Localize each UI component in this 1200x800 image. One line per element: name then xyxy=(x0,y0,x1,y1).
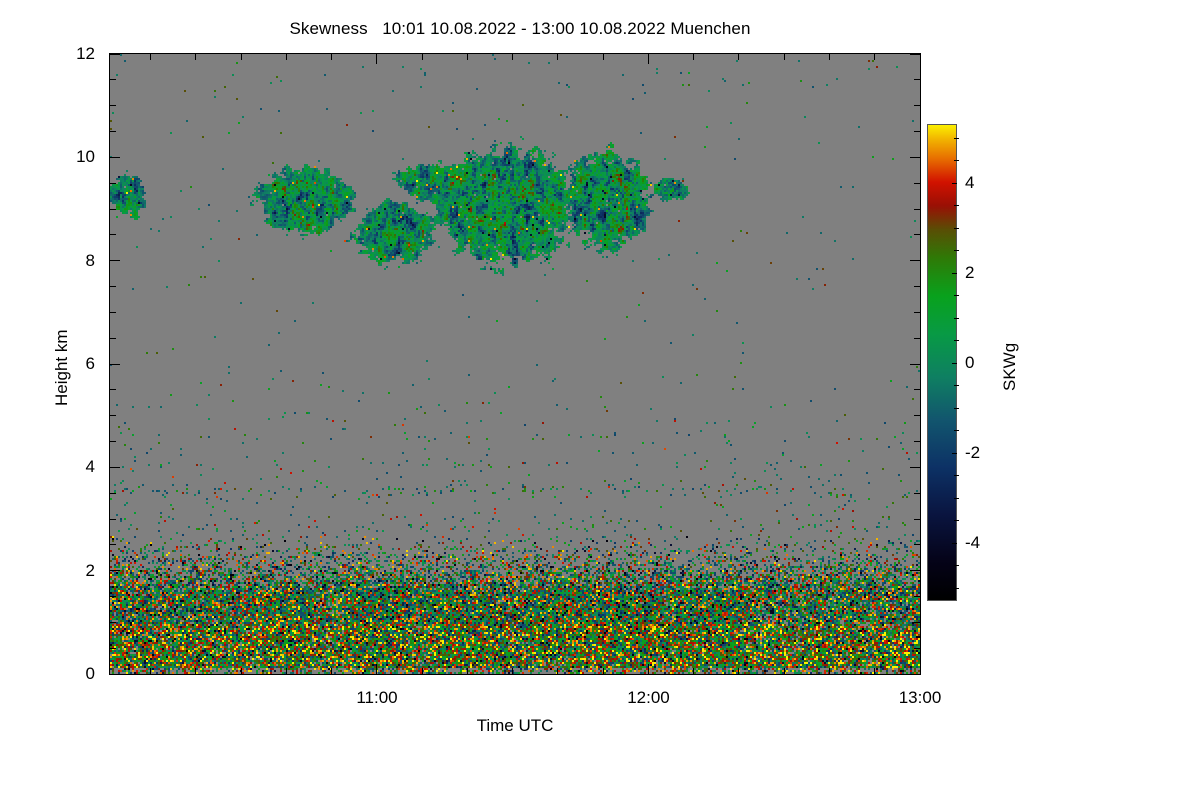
x-tick xyxy=(150,668,151,674)
y-tick xyxy=(914,622,920,623)
colorbar-minor-tick xyxy=(954,565,959,566)
heatmap-canvas xyxy=(110,54,920,674)
y-tick-label: 10 xyxy=(0,147,95,167)
colorbar-minor-tick xyxy=(954,408,959,409)
x-tick xyxy=(422,668,423,674)
y-tick xyxy=(110,260,120,261)
x-tick xyxy=(920,664,921,674)
colorbar-tick xyxy=(952,273,957,274)
y-tick xyxy=(914,105,920,106)
x-tick xyxy=(467,668,468,674)
colorbar-minor-tick xyxy=(954,295,959,296)
y-tick-label: 4 xyxy=(0,457,95,477)
colorbar-tick xyxy=(952,363,957,364)
x-tick xyxy=(195,54,196,60)
x-tick xyxy=(286,668,287,674)
y-tick xyxy=(110,415,116,416)
y-tick xyxy=(110,570,120,571)
y-tick xyxy=(110,79,116,80)
x-tick xyxy=(195,668,196,674)
x-tick xyxy=(331,668,332,674)
x-tick xyxy=(603,668,604,674)
chart-title: Skewness 10:01 10.08.2022 - 13:00 10.08.… xyxy=(0,19,1040,39)
colorbar-minor-tick xyxy=(954,430,959,431)
colorbar-label: SKWg xyxy=(1000,342,1020,390)
x-tick xyxy=(331,54,332,60)
y-tick xyxy=(110,312,116,313)
colorbar-minor-tick xyxy=(954,385,959,386)
y-tick-label: 2 xyxy=(0,561,95,581)
y-tick xyxy=(910,54,920,55)
skewness-time-height-plot: Skewness 10:01 10.08.2022 - 13:00 10.08.… xyxy=(0,0,1200,800)
x-tick xyxy=(648,54,649,64)
y-tick xyxy=(914,286,920,287)
y-tick xyxy=(914,183,920,184)
y-tick xyxy=(914,544,920,545)
x-tick xyxy=(150,54,151,60)
x-tick xyxy=(693,668,694,674)
colorbar-minor-tick xyxy=(954,318,959,319)
colorbar-minor-tick xyxy=(954,160,959,161)
y-tick xyxy=(910,570,920,571)
y-tick xyxy=(110,519,116,520)
y-tick xyxy=(914,79,920,80)
y-tick-label: 6 xyxy=(0,354,95,374)
y-tick xyxy=(110,648,116,649)
y-tick xyxy=(110,544,116,545)
x-tick xyxy=(241,54,242,60)
plot-area xyxy=(110,54,920,674)
y-tick xyxy=(110,493,116,494)
y-tick xyxy=(910,157,920,158)
x-tick xyxy=(874,668,875,674)
colorbar-minor-tick xyxy=(954,228,959,229)
colorbar-minor-tick xyxy=(954,588,959,589)
y-tick xyxy=(914,519,920,520)
y-tick xyxy=(110,441,116,442)
y-tick xyxy=(110,467,120,468)
colorbar-minor-tick xyxy=(954,205,959,206)
x-tick xyxy=(738,668,739,674)
y-tick xyxy=(110,105,116,106)
colorbar-tick-label: -4 xyxy=(965,533,980,553)
y-tick xyxy=(110,54,120,55)
colorbar-tick xyxy=(952,543,957,544)
x-tick xyxy=(241,668,242,674)
y-tick xyxy=(110,157,120,158)
y-tick xyxy=(914,415,920,416)
colorbar-minor-tick xyxy=(954,475,959,476)
x-tick xyxy=(693,54,694,60)
y-tick xyxy=(914,648,920,649)
x-tick xyxy=(557,668,558,674)
x-tick xyxy=(467,54,468,60)
x-tick xyxy=(920,54,921,64)
y-tick xyxy=(110,183,116,184)
y-tick xyxy=(914,131,920,132)
y-tick xyxy=(910,260,920,261)
y-tick xyxy=(914,234,920,235)
y-tick xyxy=(910,674,920,675)
colorbar-tick-label: 0 xyxy=(965,353,974,373)
colorbar-minor-tick xyxy=(954,138,959,139)
y-tick xyxy=(914,493,920,494)
x-tick xyxy=(286,54,287,60)
x-tick xyxy=(512,54,513,60)
y-tick xyxy=(914,441,920,442)
x-tick xyxy=(557,54,558,60)
y-tick xyxy=(910,467,920,468)
x-tick xyxy=(422,54,423,60)
x-tick xyxy=(603,54,604,60)
y-tick xyxy=(110,209,116,210)
colorbar-minor-tick xyxy=(954,498,959,499)
y-tick xyxy=(110,234,116,235)
y-tick xyxy=(110,364,120,365)
y-tick xyxy=(110,674,120,675)
x-tick-label: 11:00 xyxy=(356,688,397,708)
x-tick-label: 13:00 xyxy=(899,688,942,708)
x-tick xyxy=(648,664,649,674)
y-tick xyxy=(910,364,920,365)
y-tick xyxy=(914,312,920,313)
y-tick-label: 8 xyxy=(0,251,95,271)
colorbar-tick xyxy=(952,183,957,184)
y-tick xyxy=(110,622,116,623)
y-tick xyxy=(110,131,116,132)
x-tick xyxy=(376,664,377,674)
x-tick xyxy=(829,54,830,60)
y-tick xyxy=(110,596,116,597)
colorbar-minor-tick xyxy=(954,250,959,251)
colorbar-tick-label: 4 xyxy=(965,173,974,193)
y-tick-label: 12 xyxy=(0,44,95,64)
x-tick xyxy=(874,54,875,60)
x-tick xyxy=(784,54,785,60)
y-tick xyxy=(914,209,920,210)
y-tick xyxy=(914,389,920,390)
y-tick xyxy=(914,596,920,597)
colorbar-tick-label: -2 xyxy=(965,443,980,463)
y-tick xyxy=(110,286,116,287)
y-tick xyxy=(110,338,116,339)
y-tick-label: 0 xyxy=(0,664,95,684)
x-tick xyxy=(738,54,739,60)
y-tick xyxy=(914,338,920,339)
x-tick xyxy=(829,668,830,674)
x-axis-label: Time UTC xyxy=(455,716,575,736)
x-tick-label: 12:00 xyxy=(627,688,670,708)
x-tick xyxy=(512,668,513,674)
colorbar-tick-label: 2 xyxy=(965,263,974,283)
colorbar-minor-tick xyxy=(954,340,959,341)
y-axis-label: Height km xyxy=(52,329,72,406)
colorbar-minor-tick xyxy=(954,520,959,521)
y-tick xyxy=(110,389,116,390)
x-tick xyxy=(376,54,377,64)
colorbar-tick xyxy=(952,453,957,454)
x-tick xyxy=(784,668,785,674)
